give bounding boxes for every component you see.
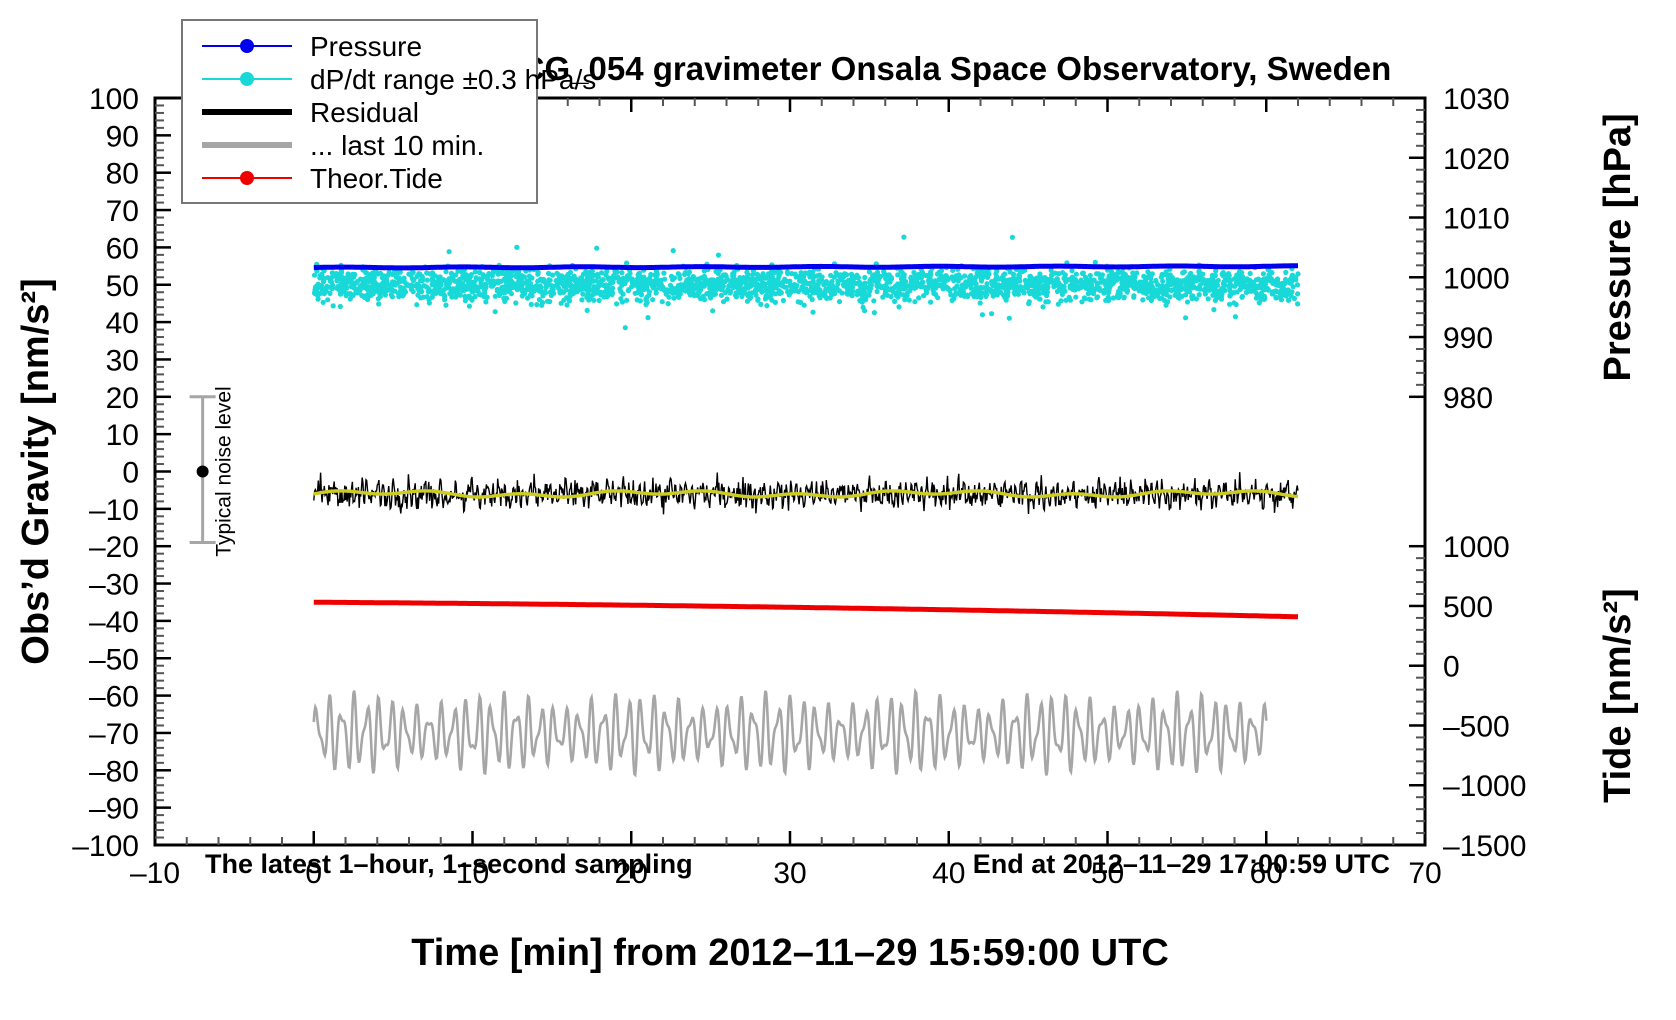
dpdt-point	[1073, 295, 1078, 300]
dpdt-point	[338, 292, 343, 297]
dpdt-point	[1203, 291, 1208, 296]
dpdt-point	[901, 235, 906, 240]
legend-label: Theor.Tide	[310, 163, 443, 194]
dpdt-point	[1222, 282, 1227, 287]
tide-tick-label: –1500	[1443, 830, 1526, 863]
dpdt-point	[759, 289, 764, 294]
y-tick-label-left: 70	[106, 195, 139, 228]
dpdt-point	[449, 271, 454, 276]
dpdt-point	[1160, 283, 1165, 288]
dpdt-point	[696, 276, 701, 281]
dpdt-point	[540, 278, 545, 283]
tide-tick-label: –1000	[1443, 770, 1526, 803]
dpdt-point	[1096, 281, 1101, 286]
dpdt-point	[829, 280, 834, 285]
dpdt-point	[892, 299, 897, 304]
dpdt-point	[760, 281, 765, 286]
dpdt-point	[467, 304, 472, 309]
dpdt-point	[1110, 281, 1115, 286]
dpdt-point	[883, 285, 888, 290]
dpdt-point	[807, 294, 812, 299]
dpdt-point	[980, 290, 985, 295]
dpdt-point	[1252, 285, 1257, 290]
dpdt-point	[671, 296, 676, 301]
dpdt-point	[979, 276, 984, 281]
dpdt-point	[739, 294, 744, 299]
dpdt-point	[345, 291, 350, 296]
dpdt-point	[935, 271, 940, 276]
dpdt-point	[921, 293, 926, 298]
dpdt-point	[1267, 275, 1272, 280]
dpdt-point	[823, 288, 828, 293]
dpdt-point	[845, 292, 850, 297]
dpdt-point	[477, 292, 482, 297]
y-tick-label-left: 50	[106, 270, 139, 303]
dpdt-point	[466, 278, 471, 283]
dpdt-point	[916, 295, 921, 300]
dpdt-point	[1279, 293, 1284, 298]
dpdt-point	[618, 289, 623, 294]
dpdt-point	[703, 281, 708, 286]
noise-center-dot	[197, 466, 209, 478]
y-tick-label-left: 60	[106, 232, 139, 265]
dpdt-point	[431, 274, 436, 279]
dpdt-point	[666, 295, 671, 300]
dpdt-point	[677, 287, 682, 292]
dpdt-point	[1004, 298, 1009, 303]
dpdt-point	[425, 278, 430, 283]
dpdt-point	[745, 285, 750, 290]
dpdt-point	[1216, 292, 1221, 297]
dpdt-point	[483, 299, 488, 304]
dpdt-point	[614, 301, 619, 306]
dpdt-point	[336, 277, 341, 282]
dpdt-point	[517, 282, 522, 287]
dpdt-point	[1129, 279, 1134, 284]
dpdt-point	[928, 300, 933, 305]
dpdt-point	[652, 272, 657, 277]
dpdt-point	[1289, 293, 1294, 298]
dpdt-point	[1094, 295, 1099, 300]
dpdt-point	[985, 275, 990, 280]
dpdt-point	[1092, 278, 1097, 283]
dpdt-point	[849, 286, 854, 291]
dpdt-point	[1028, 282, 1033, 287]
dpdt-point	[1295, 282, 1300, 287]
dpdt-point	[918, 284, 923, 289]
dpdt-point	[372, 285, 377, 290]
dpdt-point	[1010, 276, 1015, 281]
dpdt-point	[355, 289, 360, 294]
dpdt-point	[390, 272, 395, 277]
dpdt-point	[647, 275, 652, 280]
x-tick-label: 40	[932, 857, 965, 890]
y-axis-title-tide: Tide [nm/s²]	[1597, 588, 1639, 803]
dpdt-point	[798, 300, 803, 305]
dpdt-point	[626, 288, 631, 293]
dpdt-point	[329, 275, 334, 280]
dpdt-point	[710, 308, 715, 313]
dpdt-point	[477, 276, 482, 281]
dpdt-point	[401, 286, 406, 291]
dpdt-point	[440, 289, 445, 294]
dpdt-point	[1006, 281, 1011, 286]
dpdt-point	[1150, 286, 1155, 291]
dpdt-point	[618, 296, 623, 301]
dpdt-point	[788, 283, 793, 288]
dpdt-point	[740, 279, 745, 284]
y-tick-label-left: 100	[89, 83, 139, 116]
dpdt-point	[994, 285, 999, 290]
dpdt-point	[338, 304, 343, 309]
dpdt-point	[785, 289, 790, 294]
dpdt-point	[998, 290, 1003, 295]
dpdt-point	[514, 245, 519, 250]
dpdt-point	[837, 299, 842, 304]
dpdt-point	[619, 270, 624, 275]
dpdt-point	[855, 275, 860, 280]
dpdt-point	[810, 310, 815, 315]
dpdt-point	[1211, 291, 1216, 296]
dpdt-point	[419, 289, 424, 294]
dpdt-point	[932, 291, 937, 296]
dpdt-point	[1018, 284, 1023, 289]
dpdt-point	[980, 312, 985, 317]
dpdt-point	[559, 273, 564, 278]
dpdt-point	[910, 280, 915, 285]
dpdt-point	[1109, 271, 1114, 276]
dpdt-point	[608, 288, 613, 293]
dpdt-point	[1227, 273, 1232, 278]
dpdt-point	[485, 277, 490, 282]
dpdt-point	[605, 294, 610, 299]
dpdt-point	[1290, 273, 1295, 278]
dpdt-point	[876, 277, 881, 282]
dpdt-point	[1197, 286, 1202, 291]
dpdt-point	[901, 275, 906, 280]
dpdt-point	[871, 298, 876, 303]
dpdt-point	[881, 272, 886, 277]
dpdt-point	[464, 272, 469, 277]
dpdt-point	[330, 270, 335, 275]
dpdt-point	[1233, 314, 1238, 319]
dpdt-point	[1124, 283, 1129, 288]
dpdt-point	[701, 276, 706, 281]
dpdt-point	[638, 298, 643, 303]
dpdt-point	[789, 271, 794, 276]
dpdt-point	[315, 290, 320, 295]
dpdt-point	[490, 273, 495, 278]
tide-tick-label: 500	[1443, 591, 1493, 624]
dpdt-point	[438, 274, 443, 279]
dpdt-point	[453, 294, 458, 299]
dpdt-point	[916, 275, 921, 280]
dpdt-point	[493, 309, 498, 314]
dpdt-point	[681, 282, 686, 287]
dpdt-point	[1284, 288, 1289, 293]
pressure-tick-label: 980	[1443, 382, 1493, 415]
dpdt-point	[645, 315, 650, 320]
dpdt-point	[1119, 285, 1124, 290]
dpdt-point	[1083, 296, 1088, 301]
dpdt-point	[327, 291, 332, 296]
dpdt-point	[1185, 299, 1190, 304]
dpdt-point	[954, 277, 959, 282]
dpdt-point	[1295, 301, 1300, 306]
dpdt-point	[816, 278, 821, 283]
dpdt-point	[1188, 271, 1193, 276]
dpdt-point	[895, 272, 900, 277]
dpdt-point	[1164, 292, 1169, 297]
dpdt-point	[520, 293, 525, 298]
dpdt-point	[778, 270, 783, 275]
dpdt-point	[546, 271, 551, 276]
dpdt-point	[630, 277, 635, 282]
dpdt-point	[380, 282, 385, 287]
dpdt-point	[948, 292, 953, 297]
dpdt-point	[542, 289, 547, 294]
dpdt-point	[313, 285, 318, 290]
dpdt-point	[534, 302, 539, 307]
dpdt-point	[945, 275, 950, 280]
dpdt-point	[770, 274, 775, 279]
dpdt-point	[714, 269, 719, 274]
dpdt-point	[1078, 280, 1083, 285]
dpdt-point	[1007, 269, 1012, 274]
dpdt-point	[352, 272, 357, 277]
dpdt-point	[381, 273, 386, 278]
dpdt-point	[687, 270, 692, 275]
dpdt-point	[641, 275, 646, 280]
dpdt-point	[1182, 269, 1187, 274]
dpdt-point	[513, 300, 518, 305]
dpdt-point	[1261, 271, 1266, 276]
dpdt-point	[1016, 272, 1021, 277]
dpdt-point	[814, 290, 819, 295]
dpdt-point	[925, 286, 930, 291]
dpdt-point	[855, 289, 860, 294]
sampling-note: The latest 1–hour, 1–second sampling	[205, 849, 693, 879]
pressure-tick-label: 990	[1443, 322, 1493, 355]
dpdt-point	[485, 295, 490, 300]
dpdt-point	[508, 278, 513, 283]
dpdt-point	[549, 286, 554, 291]
dpdt-point	[434, 283, 439, 288]
dpdt-point	[1061, 276, 1066, 281]
dpdt-point	[818, 295, 823, 300]
dpdt-point	[330, 283, 335, 288]
dpdt-point	[579, 297, 584, 302]
y-tick-label-left: 30	[106, 344, 139, 377]
dpdt-point	[366, 286, 371, 291]
y-tick-label-left: –70	[89, 718, 139, 751]
dpdt-point	[807, 270, 812, 275]
dpdt-point	[608, 281, 613, 286]
dpdt-point	[415, 274, 420, 279]
dpdt-point	[657, 285, 662, 290]
dpdt-point	[676, 271, 681, 276]
dpdt-point	[341, 286, 346, 291]
dpdt-point	[320, 288, 325, 293]
dpdt-point	[492, 282, 497, 287]
dpdt-point	[508, 285, 513, 290]
dpdt-point	[1197, 269, 1202, 274]
dpdt-point	[366, 278, 371, 283]
dpdt-point	[411, 289, 416, 294]
dpdt-point	[669, 274, 674, 279]
dpdt-point	[1235, 289, 1240, 294]
dpdt-point	[587, 276, 592, 281]
dpdt-point	[1283, 277, 1288, 282]
dpdt-point	[764, 303, 769, 308]
dpdt-point	[1010, 235, 1015, 240]
noise-level-label: Typical noise level	[213, 386, 236, 556]
dpdt-point	[702, 297, 707, 302]
dpdt-point	[421, 283, 426, 288]
chart-title: SCG_054 gravimeter Onsala Space Observat…	[499, 50, 1392, 87]
dpdt-point	[411, 283, 416, 288]
dpdt-point	[572, 274, 577, 279]
dpdt-point	[1227, 302, 1232, 307]
dpdt-point	[414, 302, 419, 307]
dpdt-point	[748, 293, 753, 298]
dpdt-point	[668, 287, 673, 292]
dpdt-point	[624, 261, 629, 266]
dpdt-point	[348, 296, 353, 301]
dpdt-point	[470, 289, 475, 294]
dpdt-point	[883, 291, 888, 296]
dpdt-point	[1206, 296, 1211, 301]
dpdt-point	[425, 294, 430, 299]
dpdt-point	[539, 303, 544, 308]
dpdt-point	[1037, 271, 1042, 276]
dpdt-point	[1051, 281, 1056, 286]
dpdt-point	[769, 298, 774, 303]
dpdt-point	[720, 287, 725, 292]
dpdt-point	[1027, 289, 1032, 294]
dpdt-point	[502, 299, 507, 304]
dpdt-point	[377, 291, 382, 296]
dpdt-point	[1232, 284, 1237, 289]
dpdt-point	[443, 269, 448, 274]
gravimeter-chart: –100102030405060701009080706050403020100…	[0, 0, 1676, 1020]
dpdt-point	[993, 279, 998, 284]
dpdt-point	[992, 292, 997, 297]
dpdt-point	[1061, 286, 1066, 291]
dpdt-point	[872, 310, 877, 315]
dpdt-point	[930, 281, 935, 286]
dpdt-point	[839, 274, 844, 279]
y-tick-label-left: 90	[106, 120, 139, 153]
y-tick-label-left: 0	[122, 457, 139, 490]
dpdt-point	[1295, 291, 1300, 296]
dpdt-point	[803, 289, 808, 294]
dpdt-point	[1033, 294, 1038, 299]
dpdt-point	[1135, 282, 1140, 287]
dpdt-point	[537, 297, 542, 302]
dpdt-point	[671, 248, 676, 253]
dpdt-point	[1259, 293, 1264, 298]
dpdt-point	[731, 273, 736, 278]
dpdt-point	[862, 282, 867, 287]
dpdt-point	[390, 294, 395, 299]
dpdt-point	[376, 301, 381, 306]
dpdt-point	[1177, 296, 1182, 301]
dpdt-point	[644, 295, 649, 300]
dpdt-point	[716, 253, 721, 258]
dpdt-point	[534, 287, 539, 292]
y-axis-title-left: Obs’d Gravity [nm/s²]	[15, 278, 57, 664]
dpdt-point	[666, 301, 671, 306]
y-tick-label-left: –10	[89, 494, 139, 527]
dpdt-point	[1274, 295, 1279, 300]
dpdt-point	[1087, 278, 1092, 283]
dpdt-point	[1211, 307, 1216, 312]
dpdt-point	[889, 294, 894, 299]
dpdt-point	[428, 289, 433, 294]
pressure-tick-label: 1020	[1443, 143, 1510, 176]
dpdt-point	[324, 284, 329, 289]
dpdt-point	[312, 273, 317, 278]
pressure-tick-label: 1010	[1443, 203, 1510, 236]
dpdt-point	[687, 289, 692, 294]
dpdt-point	[1088, 273, 1093, 278]
dpdt-point	[528, 281, 533, 286]
dpdt-point	[1071, 279, 1076, 284]
dpdt-point	[548, 278, 553, 283]
dpdt-point	[1034, 282, 1039, 287]
dpdt-point	[1116, 295, 1121, 300]
dpdt-point	[585, 308, 590, 313]
dpdt-point	[410, 276, 415, 281]
dpdt-point	[458, 277, 463, 282]
end-time-note: End at 2012–11–29 17:00:59 UTC	[973, 849, 1390, 879]
dpdt-point	[690, 277, 695, 282]
dpdt-point	[390, 279, 395, 284]
dpdt-point	[1245, 287, 1250, 292]
dpdt-point	[711, 277, 716, 282]
dpdt-point	[758, 276, 763, 281]
dpdt-point	[1185, 283, 1190, 288]
dpdt-point	[527, 274, 532, 279]
dpdt-point	[353, 280, 358, 285]
dpdt-point	[1102, 288, 1107, 293]
dpdt-point	[944, 285, 949, 290]
dpdt-point	[814, 273, 819, 278]
y-tick-label-left: –40	[89, 606, 139, 639]
dpdt-point	[618, 278, 623, 283]
dpdt-point	[1275, 276, 1280, 281]
dpdt-point	[509, 291, 514, 296]
dpdt-point	[503, 272, 508, 277]
dpdt-point	[776, 280, 781, 285]
dpdt-point	[483, 282, 488, 287]
dpdt-point	[635, 281, 640, 286]
dpdt-point	[952, 286, 957, 291]
legend-label: dP/dt range ±0.3 hPa/s	[310, 64, 596, 95]
dpdt-point	[1190, 281, 1195, 286]
dpdt-point	[448, 276, 453, 281]
dpdt-point	[1256, 285, 1261, 290]
dpdt-point	[447, 249, 452, 254]
dpdt-point	[364, 271, 369, 276]
dpdt-point	[594, 246, 599, 251]
dpdt-point	[782, 285, 787, 290]
dpdt-point	[600, 277, 605, 282]
dpdt-point	[907, 298, 912, 303]
dpdt-point	[1229, 291, 1234, 296]
dpdt-point	[442, 294, 447, 299]
